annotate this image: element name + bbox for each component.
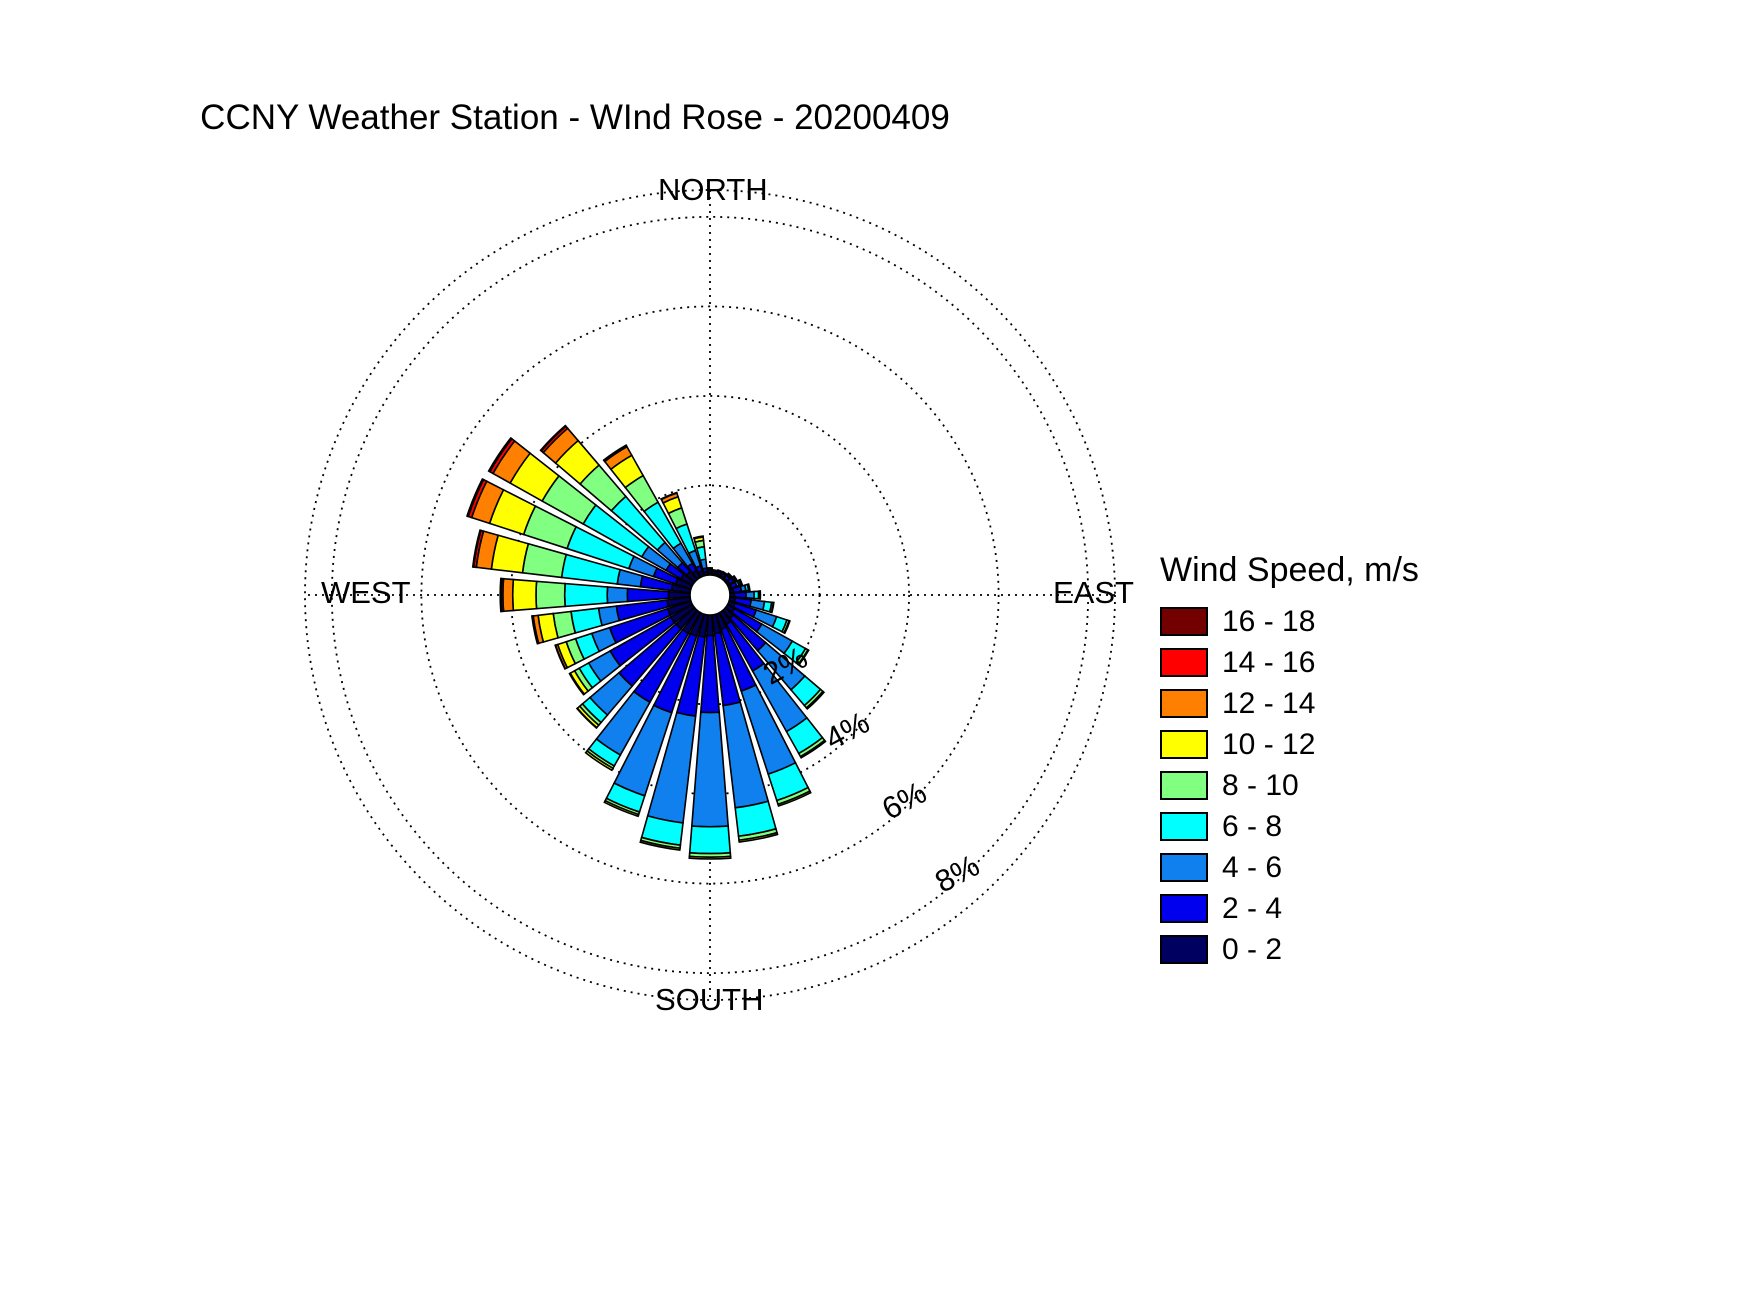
legend-swatch: [1160, 730, 1208, 759]
legend-item[interactable]: 14 - 16: [1160, 642, 1720, 683]
legend-title: Wind Speed, m/s: [1160, 553, 1720, 587]
compass-label-east: EAST: [1053, 575, 1134, 611]
petal-segment: [607, 587, 627, 603]
petal-segment: [760, 591, 761, 599]
petal-segment: [536, 581, 565, 608]
compass-label-north: NORTH: [658, 172, 768, 208]
petal-segment: [746, 592, 754, 599]
legend-swatch: [1160, 935, 1208, 964]
legend-label: 4 - 6: [1222, 853, 1282, 883]
petal-layer: [467, 426, 825, 859]
petal-segment: [565, 584, 608, 607]
legend-label: 16 - 18: [1222, 607, 1315, 637]
petal-segment: [689, 856, 730, 859]
compass-label-south: SOUTH: [655, 982, 764, 1018]
petal-segment: [571, 608, 602, 633]
legend-swatch: [1160, 648, 1208, 677]
petal-segment: [690, 826, 731, 854]
legend-swatch: [1160, 894, 1208, 923]
legend-swatch: [1160, 812, 1208, 841]
legend-item[interactable]: 6 - 8: [1160, 806, 1720, 847]
petal-segment: [513, 580, 537, 611]
petal-segment: [713, 570, 717, 571]
legend-item[interactable]: 2 - 4: [1160, 888, 1720, 929]
petal-segment: [692, 712, 728, 827]
petal-segment: [500, 579, 502, 612]
wind-rose-figure: CCNY Weather Station - WInd Rose - 20200…: [0, 0, 1750, 1313]
legend-label: 12 - 14: [1222, 689, 1315, 719]
legend-swatch: [1160, 607, 1208, 636]
legend-label: 14 - 16: [1222, 648, 1315, 678]
legend-label: 10 - 12: [1222, 730, 1315, 760]
legend-item[interactable]: 10 - 12: [1160, 724, 1720, 765]
legend-label: 8 - 10: [1222, 771, 1299, 801]
petal-segment: [708, 568, 712, 569]
page-title: CCNY Weather Station - WInd Rose - 20200…: [0, 98, 1150, 138]
petal-segment: [503, 579, 513, 612]
legend-item[interactable]: 4 - 6: [1160, 847, 1720, 888]
compass-label-west: WEST: [321, 575, 411, 611]
petal-segment: [627, 589, 668, 602]
legend-item[interactable]: 12 - 14: [1160, 683, 1720, 724]
legend-item[interactable]: 16 - 18: [1160, 601, 1720, 642]
legend-swatch: [1160, 771, 1208, 800]
petal-segment: [734, 592, 746, 598]
legend-label: 6 - 8: [1222, 812, 1282, 842]
legend-swatch: [1160, 689, 1208, 718]
legend-label: 2 - 4: [1222, 894, 1282, 924]
petal-segment: [523, 544, 567, 578]
center-hub: [690, 575, 730, 615]
legend-label: 0 - 2: [1222, 935, 1282, 965]
legend: Wind Speed, m/s 16 - 1814 - 1612 - 1410 …: [1160, 553, 1720, 970]
legend-swatch: [1160, 853, 1208, 882]
legend-item[interactable]: 8 - 10: [1160, 765, 1720, 806]
legend-rows: 16 - 1814 - 1612 - 1410 - 128 - 106 - 84…: [1160, 601, 1720, 970]
legend-item[interactable]: 0 - 2: [1160, 929, 1720, 970]
